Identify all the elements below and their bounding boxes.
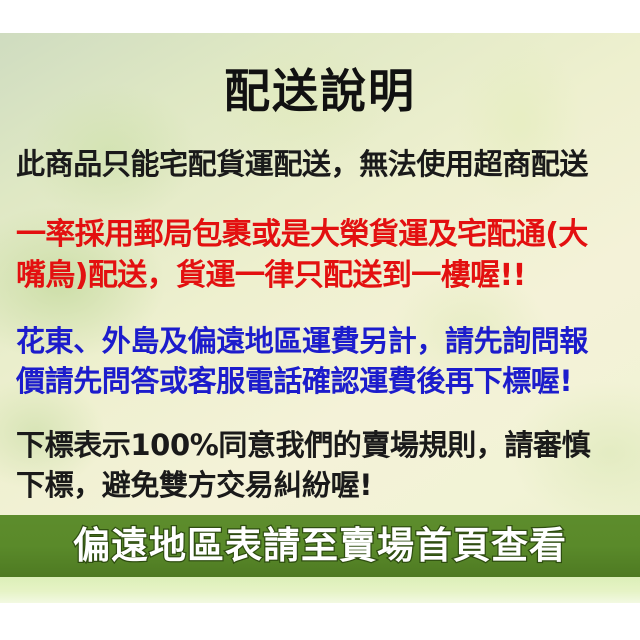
remote-area-fee-paragraph: 花東、外島及偏遠地區運費另計，請先詢問報 價請先問答或客服電話確認運費後再下標喔… bbox=[0, 321, 640, 401]
bidding-agreement-paragraph: 下標表示100%同意我們的賣場規則，請審慎 下標，避免雙方交易糾紛喔! bbox=[0, 425, 640, 505]
shipping-notice-card: 配送說明 此商品只能宅配貨運配送，無法使用超商配送 一率採用郵局包裹或是大榮貨運… bbox=[0, 33, 640, 603]
remote-area-banner-text: 偏遠地區表請至賣場首頁查看 bbox=[73, 526, 567, 566]
shipping-method-paragraph: 此商品只能宅配貨運配送，無法使用超商配送 bbox=[0, 144, 640, 184]
footer-accent-strip bbox=[0, 577, 640, 603]
remote-area-banner: 偏遠地區表請至賣場首頁查看 bbox=[0, 515, 640, 577]
page-title: 配送說明 bbox=[0, 65, 640, 117]
carrier-notice-paragraph: 一率採用郵局包裹或是大榮貨運及宅配通(大 嘴鳥)配送，貨運一律只配送到一樓喔!! bbox=[0, 214, 640, 296]
